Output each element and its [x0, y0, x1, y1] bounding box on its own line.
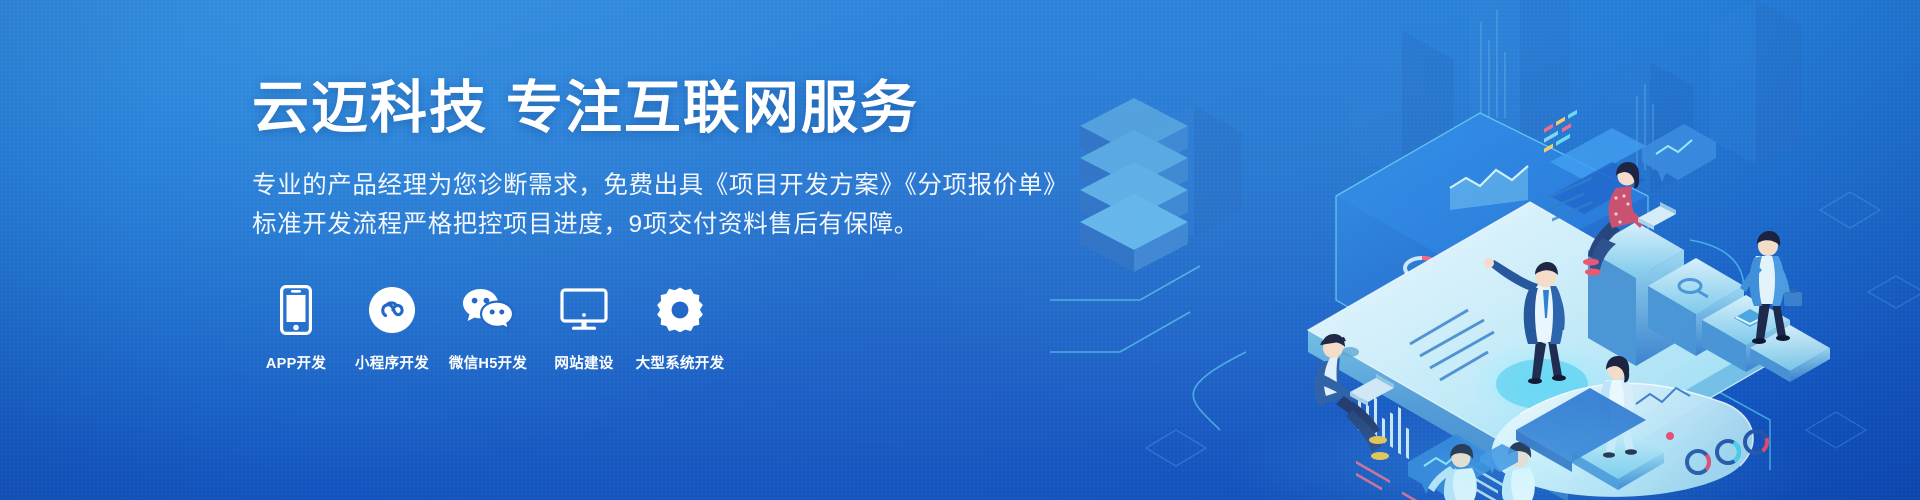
screen-red-rows — [1356, 461, 1432, 500]
code-palette-panel — [1516, 110, 1646, 472]
chat-bubble-chart-right — [1642, 124, 1716, 182]
service-icon-row: APP开发 小程序开发 — [250, 282, 726, 373]
screen-donut-chart — [1405, 258, 1439, 278]
monitor-icon — [560, 282, 608, 338]
service-label: APP开发 — [266, 352, 326, 373]
isometric-illustration — [1050, 0, 1920, 500]
seated-man-with-laptop — [1315, 334, 1394, 460]
receipt-paper-chart-flow — [1492, 177, 1770, 497]
circuit-lines — [1050, 240, 1770, 480]
halftone-dot-texture — [0, 0, 1920, 500]
tablet-platform — [1308, 202, 1790, 500]
edge-vignette — [0, 0, 1920, 500]
service-item-mini-program-development[interactable]: 小程序开发 — [346, 282, 438, 373]
hero-copy-block: 云迈科技 专注互联网服务 专业的产品经理为您诊断需求，免费出具《项目开发方案》《… — [252, 78, 1092, 245]
pad-text-lines — [1410, 310, 1494, 380]
wireframe-diamonds — [1146, 192, 1920, 466]
gear-icon — [657, 282, 703, 338]
screen-text-lines — [1450, 453, 1512, 500]
hero-banner: 云迈科技 专注互联网服务 专业的产品经理为您诊断需求，免费出具《项目开发方案》《… — [0, 0, 1920, 500]
screen-side-panels — [1550, 128, 1646, 500]
chat-bubble-chart-left — [1408, 434, 1490, 496]
seated-woman-with-laptop — [1583, 162, 1676, 276]
service-item-large-system-development[interactable]: 大型系统开发 — [634, 282, 726, 373]
data-dot-columns — [1480, 10, 1654, 170]
chatting-figures-pair — [1428, 442, 1535, 500]
hero-subtitle: 专业的产品经理为您诊断需求，免费出具《项目开发方案》《分项报价单》 标准开发流程… — [252, 166, 1092, 245]
mobile-phone-icon — [280, 282, 312, 338]
gauge-rings — [1683, 428, 1771, 478]
service-label: 大型系统开发 — [636, 352, 725, 373]
subtitle-line-2: 标准开发流程严格把控项目进度，9项交付资料售后有保障。 — [252, 205, 1092, 245]
screen-bar-chart — [1358, 394, 1409, 459]
mini-program-icon — [369, 282, 415, 338]
city-skyline-silhouette — [1146, 0, 1802, 236]
dashboard-screen — [1336, 113, 1648, 500]
walking-woman — [1572, 356, 1664, 490]
screen-line-chart — [1450, 166, 1528, 210]
page-title: 云迈科技 专注互联网服务 — [252, 78, 1092, 140]
service-item-website-construction[interactable]: 网站建设 — [538, 282, 630, 373]
stair-step-blocks — [1588, 222, 1830, 382]
service-label: 小程序开发 — [355, 352, 429, 373]
envelope-block-icon — [1734, 309, 1766, 327]
service-item-app-development[interactable]: APP开发 — [250, 282, 342, 373]
server-rack-stack — [1080, 98, 1188, 272]
subtitle-line-1: 专业的产品经理为您诊断需求，免费出具《项目开发方案》《分项报价单》 — [252, 166, 1092, 206]
standing-man-pointing — [1484, 258, 1566, 384]
service-label: 网站建设 — [554, 352, 613, 373]
wechat-icon — [461, 282, 515, 338]
walking-man-with-briefcase — [1740, 231, 1802, 344]
magnifier-block-icon — [1679, 280, 1708, 298]
service-label: 微信H5开发 — [449, 352, 527, 373]
service-item-wechat-h5-development[interactable]: 微信H5开发 — [442, 282, 534, 373]
